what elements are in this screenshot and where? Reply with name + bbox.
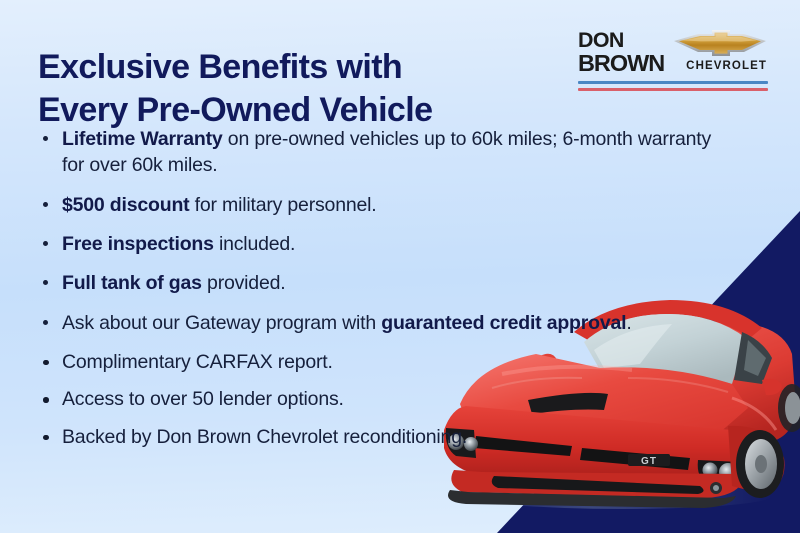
list-item: Access to over 50 lender options. <box>36 386 726 412</box>
bullet-dot-icon <box>43 280 48 285</box>
bullet-dot-icon <box>43 202 48 207</box>
bowtie-area: CHEVROLET <box>672 28 768 78</box>
bullet-dot-icon <box>43 435 49 441</box>
list-item: $500 discount for military personnel. <box>36 192 726 218</box>
page-title: Exclusive Benefits with Every Pre-Owned … <box>38 46 558 133</box>
logo-stripes <box>578 81 768 95</box>
benefit-text: Ask about our Gateway program with <box>62 312 381 334</box>
list-item: Ask about our Gateway program with guara… <box>36 310 726 336</box>
page-title-line-1: Exclusive Benefits with <box>38 46 558 90</box>
dealer-logo[interactable]: DON BROWN <box>578 28 768 100</box>
benefit-text: Complimentary CARFAX report. <box>62 351 333 373</box>
logo-word-brown: BROWN <box>578 52 664 75</box>
benefit-emphasis: $500 discount <box>62 194 189 216</box>
benefit-emphasis: Lifetime Warranty <box>62 128 223 150</box>
bullet-dot-icon <box>43 320 48 325</box>
logo-wordmark: DON BROWN <box>578 29 664 75</box>
bullet-dot-icon <box>43 397 49 403</box>
logo-top-row: DON BROWN <box>578 28 768 80</box>
list-item: Complimentary CARFAX report. <box>36 349 726 375</box>
benefit-text: Access to over 50 lender options. <box>62 388 344 410</box>
logo-brand-chevrolet: CHEVROLET <box>686 60 767 72</box>
bullet-dot-icon <box>43 360 49 366</box>
list-item: Backed by Don Brown Chevrolet reconditio… <box>36 424 726 450</box>
benefit-text: provided. <box>202 272 286 294</box>
benefit-emphasis: guaranteed credit approval <box>381 312 626 334</box>
benefit-emphasis: Free inspections <box>62 233 214 255</box>
benefit-emphasis: Full tank of gas <box>62 272 202 294</box>
logo-stripe-blue <box>578 81 768 84</box>
list-item: Lifetime Warranty on pre-owned vehicles … <box>36 126 726 179</box>
benefit-text: included. <box>214 233 295 255</box>
chevrolet-bowtie-icon <box>672 28 768 58</box>
promo-banner: GT <box>0 0 800 533</box>
benefit-text-tail: . <box>626 312 631 334</box>
list-item: Full tank of gas provided. <box>36 270 726 296</box>
logo-word-don: DON <box>578 29 664 52</box>
bullet-dot-icon <box>43 241 48 246</box>
list-item: Free inspections included. <box>36 231 726 257</box>
benefits-list: Lifetime Warranty on pre-owned vehicles … <box>36 126 726 461</box>
benefit-text: Backed by Don Brown Chevrolet reconditio… <box>62 426 467 448</box>
logo-stripe-red <box>578 88 768 91</box>
bullet-dot-icon <box>43 136 48 141</box>
benefit-text: for military personnel. <box>189 194 376 216</box>
